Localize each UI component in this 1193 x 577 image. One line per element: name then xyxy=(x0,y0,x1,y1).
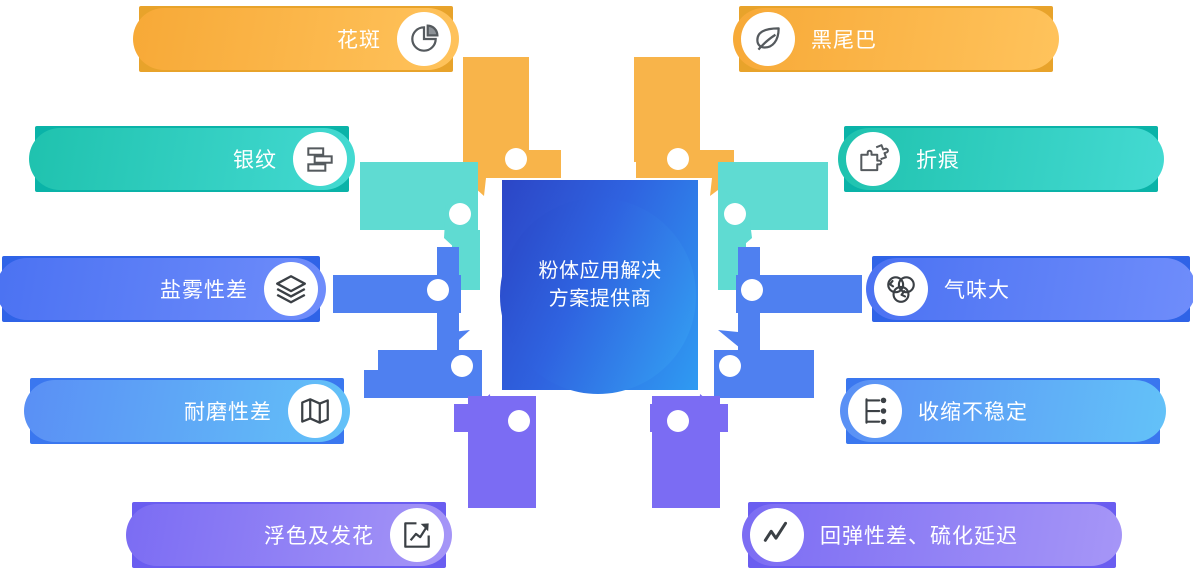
connector-hua-ban xyxy=(463,57,561,196)
node-yin-wen[interactable]: 银纹 xyxy=(29,120,355,198)
node-shou-suo-bu-wen-ding[interactable]: 收缩不稳定 xyxy=(840,372,1166,450)
recycle-icon xyxy=(874,262,928,316)
node-pill[interactable]: 收缩不稳定 xyxy=(840,380,1166,442)
node-pill[interactable]: 气味大 xyxy=(866,258,1193,320)
node-label: 折痕 xyxy=(900,144,976,174)
node-pill[interactable]: 回弹性差、硫化延迟 xyxy=(742,504,1122,566)
connector-yan-wu-xing-cha xyxy=(333,247,461,357)
center-node: 粉体应用解决 方案提供商 xyxy=(502,180,698,390)
node-label: 收缩不稳定 xyxy=(902,396,1044,426)
node-hui-tan-xing-cha[interactable]: 回弹性差、硫化延迟 xyxy=(742,496,1122,574)
connector-shou-suo-bu-wen-ding xyxy=(714,330,814,398)
node-zhe-hen[interactable]: 折痕 xyxy=(838,120,1164,198)
connector-hui-tan-xing-cha xyxy=(650,394,728,508)
connector-zhe-hen xyxy=(718,162,828,290)
node-label: 气味大 xyxy=(928,274,1026,304)
node-fu-se-ji-fa-hua[interactable]: 浮色及发花 xyxy=(126,496,452,574)
node-qi-wei-da[interactable]: 气味大 xyxy=(866,250,1193,328)
node-pill[interactable]: 盐雾性差 xyxy=(0,258,326,320)
node-hei-wei-ba[interactable]: 黑尾巴 xyxy=(733,0,1059,78)
node-pill[interactable]: 花斑 xyxy=(133,8,459,70)
brick-wall-icon xyxy=(293,132,347,186)
connector-fu-se-ji-fa-hua xyxy=(454,394,536,508)
node-label: 黑尾巴 xyxy=(795,24,893,54)
puzzle-icon xyxy=(846,132,900,186)
chart-growth-icon xyxy=(390,508,444,562)
node-label: 花斑 xyxy=(321,24,397,54)
layers-icon xyxy=(264,262,318,316)
center-label: 粉体应用解决 方案提供商 xyxy=(502,180,698,390)
line-chart-icon xyxy=(750,508,804,562)
map-icon xyxy=(288,384,342,438)
node-pill[interactable]: 耐磨性差 xyxy=(24,380,350,442)
node-label: 回弹性差、硫化延迟 xyxy=(804,520,1034,550)
connector-yin-wen xyxy=(360,162,480,290)
connector-qi-wei-da xyxy=(736,247,862,357)
node-label: 盐雾性差 xyxy=(144,274,264,304)
node-pill[interactable]: 黑尾巴 xyxy=(733,8,1059,70)
pie-chart-icon xyxy=(397,12,451,66)
node-pill[interactable]: 折痕 xyxy=(838,128,1164,190)
connector-hei-wei-ba xyxy=(634,57,734,196)
node-label: 银纹 xyxy=(217,144,293,174)
sitemap-icon xyxy=(848,384,902,438)
node-pill[interactable]: 银纹 xyxy=(29,128,355,190)
diagram-canvas: 粉体应用解决 方案提供商 花斑 xyxy=(0,0,1193,577)
connector-nai-mo-xing-cha xyxy=(364,330,482,398)
node-nai-mo-xing-cha[interactable]: 耐磨性差 xyxy=(24,372,350,450)
node-hua-ban[interactable]: 花斑 xyxy=(133,0,459,78)
node-yan-wu-xing-cha[interactable]: 盐雾性差 xyxy=(0,250,326,328)
node-pill[interactable]: 浮色及发花 xyxy=(126,504,452,566)
node-label: 浮色及发花 xyxy=(248,520,390,550)
leaf-icon xyxy=(741,12,795,66)
node-label: 耐磨性差 xyxy=(168,396,288,426)
